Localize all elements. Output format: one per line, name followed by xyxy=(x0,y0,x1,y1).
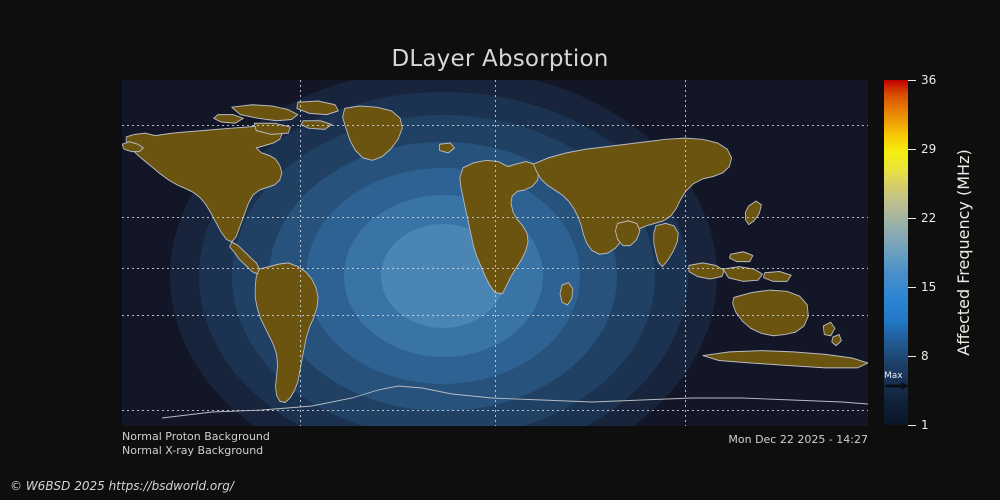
colorbar-axis-label: Affected Frequency (MHz) xyxy=(952,80,976,425)
tick-value: 36 xyxy=(921,73,936,87)
xray-background-status: Normal X-ray Background xyxy=(122,444,263,457)
credit-line: © W6BSD 2025 https://bsdworld.org/ xyxy=(10,479,234,493)
page-title: DLayer Absorption xyxy=(0,46,1000,72)
tick-dash-icon xyxy=(908,287,916,288)
tick-dash-icon xyxy=(908,356,916,357)
colorbar-max-marker: Max xyxy=(884,371,912,393)
tick-value: 1 xyxy=(921,418,929,432)
timestamp: Mon Dec 22 2025 - 14:27 xyxy=(728,433,868,446)
antarctica-coastline xyxy=(162,386,868,418)
longitude-gridline xyxy=(685,80,686,426)
longitude-gridline xyxy=(495,80,496,426)
tick-value: 29 xyxy=(921,142,936,156)
app-root: DLayer Absorption xyxy=(0,0,1000,500)
tick-value: 22 xyxy=(921,211,936,225)
proton-background-status: Normal Proton Background xyxy=(122,430,270,443)
tick-value: 8 xyxy=(921,349,929,363)
tick-dash-icon xyxy=(908,218,916,219)
tick-dash-icon xyxy=(908,425,916,426)
longitude-gridline xyxy=(300,80,301,426)
max-arrow-icon xyxy=(885,382,909,390)
world-map[interactable] xyxy=(122,80,868,426)
tick-dash-icon xyxy=(908,149,916,150)
tick-value: 15 xyxy=(921,280,936,294)
colorbar-max-label: Max xyxy=(884,371,903,381)
tick-dash-icon xyxy=(908,80,916,81)
